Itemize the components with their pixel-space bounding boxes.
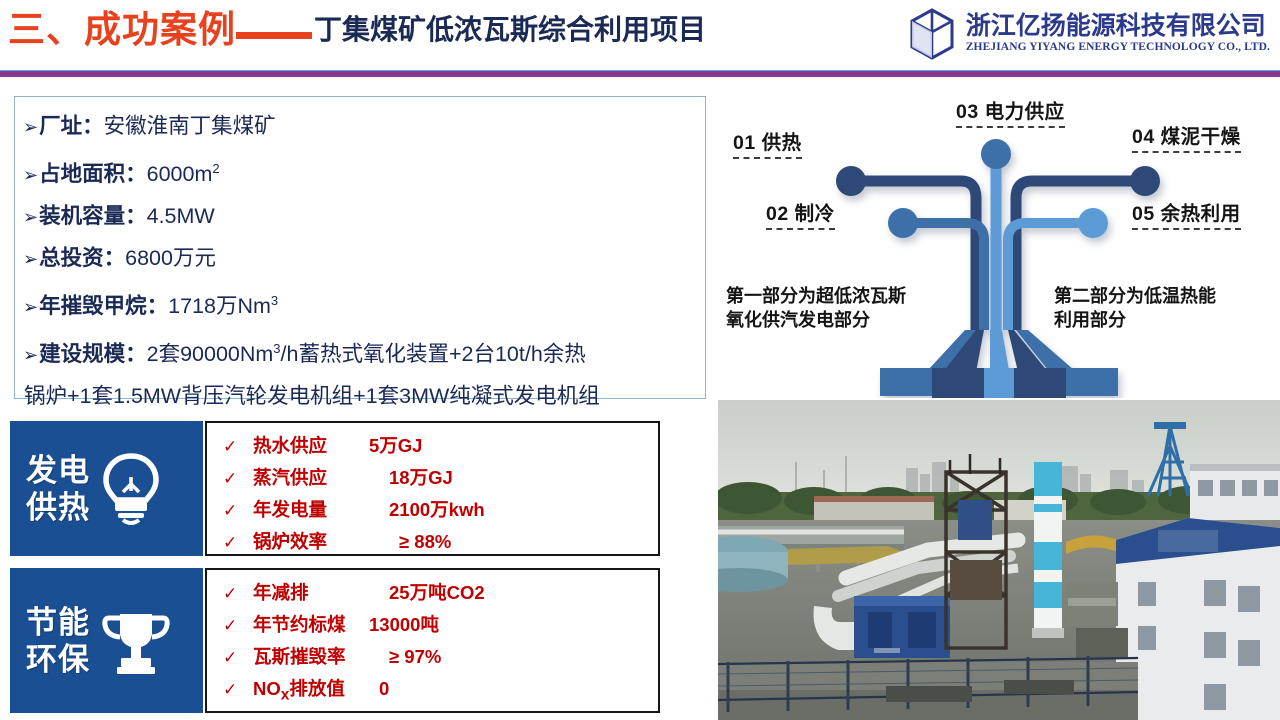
info-label: 装机容量： xyxy=(39,196,147,237)
info-row: ➢ 总投资： 6800万元 xyxy=(23,238,697,280)
checklist-value: ≥ 88% xyxy=(399,526,451,557)
checklist-row: ✓ 年节约标煤 13000吨 xyxy=(223,609,658,641)
info-label: 占地面积： xyxy=(39,154,147,195)
info-value: 2套90000Nm3/h蓄热式氧化装置+2台10t/h余热 xyxy=(147,328,586,375)
feature-tag-label: 节能 环保 xyxy=(26,604,90,678)
info-value-text: 6000m xyxy=(147,162,213,186)
info-row: ➢ 年摧毁甲烷： 1718万Nm3 xyxy=(23,280,697,328)
checklist-row: ✓ 年发电量 2100万kwh xyxy=(223,494,658,526)
diagram-label-05: 05 余热利用 xyxy=(1132,197,1241,230)
arrow-bullet-icon: ➢ xyxy=(23,287,38,328)
info-value: 6000m2 xyxy=(147,148,220,195)
feature-checklist: ✓ 热水供应 5万GJ ✓ 蒸汽供应 18万GJ ✓ 年发电量 2100万kwh… xyxy=(205,421,660,556)
checklist-label: 年节约标煤 xyxy=(253,609,369,640)
checklist-value: ≥ 97% xyxy=(389,641,441,672)
diagram-label-01: 01 供热 xyxy=(733,126,802,159)
info-value-sup: 2 xyxy=(212,161,219,176)
arrow-bullet-icon: ➢ xyxy=(23,239,38,280)
check-icon: ✓ xyxy=(223,527,253,558)
diagram-label-04: 04 煤泥干燥 xyxy=(1132,120,1241,153)
check-icon: ✓ xyxy=(223,463,253,494)
info-label: 总投资： xyxy=(39,238,125,279)
info-label: 厂址： xyxy=(39,106,104,147)
feature-tag: 节能 环保 xyxy=(10,568,203,713)
info-row: ➢ 装机容量： 4.5MW xyxy=(23,196,697,238)
page-title-navy: 丁集煤矿低浓瓦斯综合利用项目 xyxy=(314,8,706,52)
project-info-panel: ➢ 厂址： 安徽淮南丁集煤矿 ➢ 占地面积： 6000m2 ➢ 装机容量： 4.… xyxy=(14,96,706,399)
nox-subscript: x xyxy=(281,687,290,704)
slide-header: 三、成功案例 丁集煤矿低浓瓦斯综合利用项目 浙江亿扬能源科技有限公司 ZHEJI… xyxy=(0,0,1280,68)
checklist-label: 瓦斯摧毁率 xyxy=(253,641,369,672)
feature-tag-label: 发电 供热 xyxy=(26,452,90,526)
checklist-row: ✓ 蒸汽供应 18万GJ xyxy=(223,462,658,494)
diagram-label-02: 02 制冷 xyxy=(766,197,835,230)
checklist-row: ✓ 锅炉效率 ≥ 88% xyxy=(223,526,658,558)
hexagon-cube-logo-icon xyxy=(908,8,956,60)
info-label: 年摧毁甲烷： xyxy=(39,286,168,327)
checklist-label: 蒸汽供应 xyxy=(253,462,369,493)
checklist-value: 25万吨CO2 xyxy=(389,577,485,608)
info-row-scale: ➢ 建设规模： 2套90000Nm3/h蓄热式氧化装置+2台10t/h余热 xyxy=(23,328,697,376)
process-branch-diagram: 01 供热 02 制冷 03 电力供应 04 煤泥干燥 05 余热利用 第一部分… xyxy=(718,80,1280,398)
checklist-label: 年减排 xyxy=(253,577,369,608)
info-value: 4.5MW xyxy=(147,196,215,237)
info-label: 建设规模： xyxy=(39,334,147,375)
plant-photo-graphic xyxy=(718,400,1280,720)
checklist-row: ✓ 瓦斯摧毁率 ≥ 97% xyxy=(223,641,658,673)
diagram-caption-part2: 第二部分为低温热能 利用部分 xyxy=(1054,284,1216,332)
checklist-value: 18万GJ xyxy=(389,462,453,493)
logo-text-block: 浙江亿扬能源科技有限公司 ZHEJIANG YIYANG ENERGY TECH… xyxy=(966,14,1270,54)
check-icon: ✓ xyxy=(223,674,253,705)
arrow-bullet-icon: ➢ xyxy=(23,155,38,196)
checklist-row: ✓ NOx排放值 0 xyxy=(223,673,658,711)
checklist-label: 锅炉效率 xyxy=(253,526,369,557)
lightbulb-icon xyxy=(98,451,164,527)
page-title-red: 三、成功案例 xyxy=(8,8,236,52)
arrow-bullet-icon: ➢ xyxy=(23,335,38,376)
diagram-caption-part1: 第一部分为超低浓瓦斯 氧化供汽发电部分 xyxy=(726,284,906,332)
checklist-value: 2100万kwh xyxy=(389,494,485,525)
checklist-value: 13000吨 xyxy=(369,609,439,640)
checklist-row: ✓ 热水供应 5万GJ xyxy=(223,430,658,462)
info-value: 6800万元 xyxy=(125,238,216,279)
checklist-value: 5万GJ xyxy=(369,430,422,461)
info-value-sup: 3 xyxy=(271,293,278,308)
feature-checklist: ✓ 年减排 25万吨CO2 ✓ 年节约标煤 13000吨 ✓ 瓦斯摧毁率 ≥ 9… xyxy=(205,568,660,713)
scale-value-sup: 3 xyxy=(273,341,280,356)
diagram-label-03: 03 电力供应 xyxy=(956,95,1065,128)
scale-value-b: /h蓄热式氧化装置+2台10t/h余热 xyxy=(281,342,586,366)
info-value: 安徽淮南丁集煤矿 xyxy=(104,106,276,147)
arrow-bullet-icon: ➢ xyxy=(23,197,38,238)
trophy-icon xyxy=(98,606,174,676)
info-row: ➢ 占地面积： 6000m2 xyxy=(23,148,697,196)
info-value: 1718万Nm3 xyxy=(168,280,278,327)
checklist-label: NOx排放值 xyxy=(253,673,369,711)
check-icon: ✓ xyxy=(223,610,253,641)
feature-tag: 发电 供热 xyxy=(10,421,203,556)
company-name-cn: 浙江亿扬能源科技有限公司 xyxy=(966,14,1270,39)
info-row: ➢ 厂址： 安徽淮南丁集煤矿 xyxy=(23,106,697,148)
company-logo: 浙江亿扬能源科技有限公司 ZHEJIANG YIYANG ENERGY TECH… xyxy=(908,8,1270,60)
checklist-row: ✓ 年减排 25万吨CO2 xyxy=(223,577,658,609)
industrial-plant-photo xyxy=(718,400,1280,720)
checklist-label: 年发电量 xyxy=(253,494,369,525)
checklist-value: 0 xyxy=(379,673,389,704)
slide-root: 三、成功案例 丁集煤矿低浓瓦斯综合利用项目 浙江亿扬能源科技有限公司 ZHEJI… xyxy=(0,0,1280,720)
feature-box-energy-saving: 节能 环保 ✓ 年减排 25万吨CO2 ✓ 年节约标煤 13000吨 xyxy=(10,568,660,713)
info-scale-wrap-line: 锅炉+1套1.5MW背压汽轮发电机组+1套3MW纯凝式发电机组 xyxy=(23,376,697,417)
header-divider xyxy=(0,70,1280,77)
check-icon: ✓ xyxy=(223,431,253,462)
company-name-en: ZHEJIANG YIYANG ENERGY TECHNOLOGY CO., L… xyxy=(966,42,1270,54)
check-icon: ✓ xyxy=(223,578,253,609)
page-title: 三、成功案例 丁集煤矿低浓瓦斯综合利用项目 xyxy=(8,8,706,52)
scale-value-a: 2套90000Nm xyxy=(147,342,274,366)
check-icon: ✓ xyxy=(223,495,253,526)
info-value-text: 1718万Nm xyxy=(168,294,271,318)
arrow-bullet-icon: ➢ xyxy=(23,107,38,148)
feature-box-power-heat: 发电 供热 ✓ 热水供应 5万GJ ✓ 蒸汽供应 18万GJ ✓ xyxy=(10,421,660,556)
check-icon: ✓ xyxy=(223,642,253,673)
checklist-label: 热水供应 xyxy=(253,430,369,461)
title-dash-icon xyxy=(236,32,312,39)
